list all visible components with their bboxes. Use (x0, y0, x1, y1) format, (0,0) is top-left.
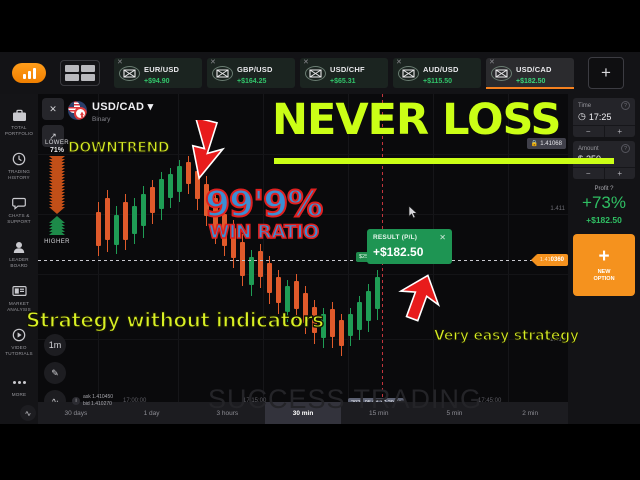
sidebar-item-label: MORE (12, 392, 27, 398)
left-sidebar: TOTAL PORTFOLIO TRADING HISTORY CHATS & … (0, 94, 38, 424)
help-icon[interactable]: ? (610, 186, 613, 192)
asset-tab-pl: +$182.50 (516, 78, 552, 85)
never-loss-overlay-text: NEVER LOSS (272, 100, 561, 141)
plus-icon: + (598, 247, 609, 266)
sidebar-item-label: VIDEO TUTORIALS (0, 345, 38, 356)
ask-price: ask 1.410450 (83, 394, 113, 401)
close-icon[interactable]: ✕ (210, 59, 216, 66)
timeframe-chart-type-icon[interactable]: ∿ (20, 405, 36, 421)
close-icon[interactable]: ✕ (489, 59, 495, 66)
play-circle-icon (12, 328, 26, 343)
letterbox-top (0, 0, 640, 52)
bid-price: bid 1.410270 (83, 401, 113, 408)
time-decrease-button[interactable]: − (573, 126, 605, 137)
dots-icon (12, 375, 27, 390)
trade-panel: Time ? ◷ 17:25 − + Amount ? $ (568, 94, 640, 424)
asset-tab-name: AUD/USD (423, 65, 459, 74)
price-tick-label: 1.411 (550, 206, 565, 212)
chart-watermark: SUCCESS TRADING (208, 384, 482, 415)
result-popup[interactable]: RESULT (P/L) ✕ +$182.50 (367, 229, 452, 264)
add-asset-button[interactable]: + (588, 57, 624, 89)
info-icon[interactable]: i (72, 397, 80, 405)
asset-tab-pl: +$115.50 (423, 78, 459, 85)
page-title: USD/CAD ▾ (92, 101, 153, 113)
amount-label: Amount (578, 146, 599, 152)
win-ratio-overlay: 99'9% WIN RATIO (205, 188, 322, 242)
help-icon[interactable]: ? (621, 101, 630, 110)
sidebar-item-label: TOTAL PORTFOLIO (0, 125, 38, 136)
close-icon[interactable]: ✕ (439, 234, 446, 242)
sidebar-item-more[interactable]: MORE (0, 364, 38, 408)
close-icon[interactable]: ✕ (42, 98, 64, 120)
timeframe-2-min[interactable]: 2 min (492, 402, 568, 424)
downtrend-overlay-text: DOWNTREND (68, 140, 169, 156)
timeframe-button[interactable]: 1m (44, 334, 66, 356)
sidebar-item-leader-board[interactable]: LEADER BOARD (0, 232, 38, 276)
red-arrow-downtrend-icon (182, 120, 238, 187)
sidebar-item-chats-support[interactable]: CHATS & SUPPORT (0, 188, 38, 232)
mouse-cursor-icon (408, 205, 418, 219)
letterbox-bottom (0, 424, 640, 480)
current-price-line (38, 260, 568, 261)
amount-increase-button[interactable]: + (605, 168, 636, 179)
clock-icon (12, 152, 26, 167)
timeframe-1-day[interactable]: 1 day (114, 402, 190, 424)
sidebar-item-label: TRADING HISTORY (0, 169, 38, 180)
asset-header[interactable]: USD/CAD ▾ Binary (68, 97, 153, 123)
screenshot-root: ✕ EUR/USD +$94.90 ✕ GBP/USD (0, 0, 640, 480)
active-tab-underline (486, 87, 574, 89)
amount-decrease-button[interactable]: − (573, 168, 605, 179)
grid-menu-icon[interactable] (60, 60, 100, 86)
gridline-vertical (178, 94, 179, 424)
very-easy-overlay-text: Very easy strategy (434, 328, 579, 344)
clock-icon: ◷ (578, 111, 586, 122)
asset-tab-pl: +$94.90 (144, 78, 179, 85)
asset-tab-name: EUR/USD (144, 65, 179, 74)
flag-icon (398, 66, 419, 81)
profit-amount: +$182.50 (573, 215, 635, 225)
result-value: +$182.50 (373, 245, 446, 259)
new-option-button[interactable]: + NEW OPTION (573, 234, 635, 296)
result-label: RESULT (P/L) (373, 234, 417, 241)
top-navbar: ✕ EUR/USD +$94.90 ✕ GBP/USD (0, 52, 640, 95)
asset-tab-gbpusd[interactable]: ✕ GBP/USD +$164.25 (207, 58, 295, 88)
close-icon[interactable]: ✕ (117, 59, 123, 66)
sidebar-item-label: LEADER BOARD (0, 257, 38, 268)
help-icon[interactable]: ? (621, 144, 630, 153)
strategy-overlay-text: Strategy without indicators (26, 308, 324, 332)
asset-tab-name: GBP/USD (237, 65, 273, 74)
red-arrow-result-icon (394, 272, 446, 327)
sidebar-item-total-portfolio[interactable]: TOTAL PORTFOLIO (0, 100, 38, 144)
flag-icon (491, 66, 512, 81)
win-ratio-label: WIN RATIO (205, 223, 322, 242)
profit-percent: +73% (573, 193, 635, 213)
time-increase-button[interactable]: + (605, 126, 636, 137)
close-icon[interactable]: ✕ (303, 59, 309, 66)
time-value: 17:25 (589, 112, 612, 122)
asset-tab-usdcad[interactable]: ✕ USD/CAD +$182.50 (486, 58, 574, 88)
higher-label: HIGHER (40, 239, 74, 245)
avatar (68, 101, 87, 120)
sidebar-item-label: CHATS & SUPPORT (0, 213, 38, 224)
bars-logo-icon[interactable] (12, 63, 46, 83)
draw-pencil-icon[interactable]: ✎ (44, 362, 66, 384)
time-field[interactable]: Time ? ◷ 17:25 − + (573, 98, 635, 137)
asset-tab-name: USD/CAD (516, 65, 552, 74)
quote-readout: i ask 1.410450 bid 1.410270 (72, 394, 113, 408)
trophy-icon (12, 240, 26, 255)
close-icon[interactable]: ✕ (396, 59, 402, 66)
asset-tab-name: USD/CHF (330, 65, 365, 74)
current-price-prefix: 1.41 (540, 257, 551, 263)
asset-subtitle: Binary (92, 116, 153, 123)
current-price-badge: 1.410360 (536, 254, 568, 266)
sidebar-item-trading-history[interactable]: TRADING HISTORY (0, 144, 38, 188)
gridline-vertical (263, 94, 264, 424)
flag-icon (119, 66, 140, 81)
new-option-label: NEW OPTION (593, 269, 614, 283)
asset-tab-audusd[interactable]: ✕ AUD/USD +$115.50 (393, 58, 481, 88)
flag-icon (212, 66, 233, 81)
gridline-horizontal (38, 274, 568, 275)
flag-icon (305, 66, 326, 81)
win-ratio-percent: 99'9% (205, 188, 322, 221)
asset-tab-pl: +$65.31 (330, 78, 365, 85)
briefcase-icon (12, 108, 27, 123)
time-label: Time (578, 103, 591, 109)
asset-tab-eurusd[interactable]: ✕ EUR/USD +$94.90 (114, 58, 202, 88)
asset-tab-usdchf[interactable]: ✕ USD/CHF +$65.31 (300, 58, 388, 88)
chevron-down-icon: ▾ (148, 101, 154, 113)
never-loss-underline (274, 158, 614, 164)
asset-tabs: ✕ EUR/USD +$94.90 ✕ GBP/USD (114, 58, 574, 88)
profit-block: Profit ? +73% +$182.50 (573, 186, 635, 225)
asset-tab-pl: +$164.25 (237, 78, 273, 85)
arrow-column (40, 156, 74, 231)
chat-bubble-icon (12, 196, 26, 211)
newspaper-icon (12, 284, 27, 299)
current-price-value: 0360 (551, 257, 564, 263)
profit-label: Profit (594, 186, 608, 192)
